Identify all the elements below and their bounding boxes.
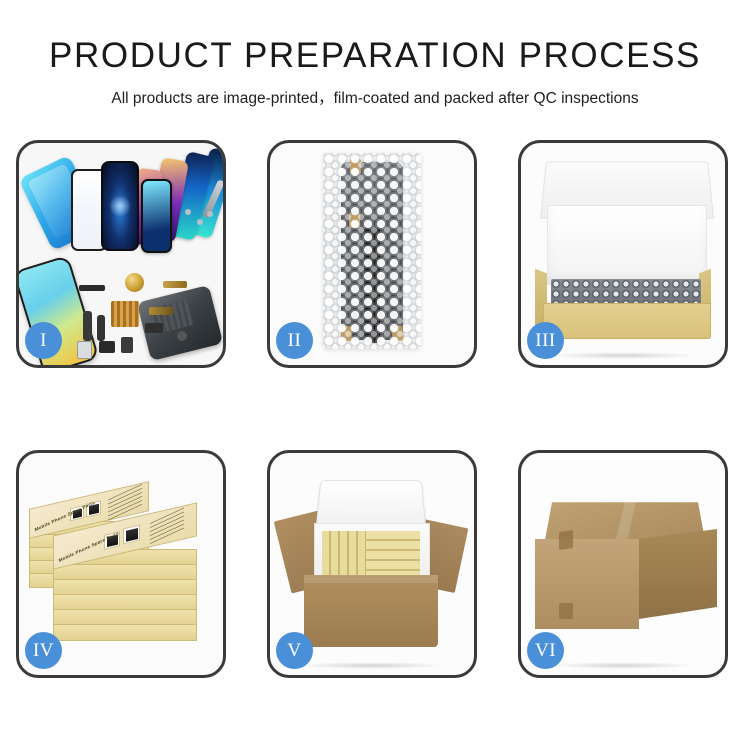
sealed-carton-icon [535,485,717,633]
spare-parts-group [77,271,205,363]
step-badge-4: IV [25,632,62,669]
flex-cable-a-icon [79,285,105,291]
phone-a-icon [141,179,172,253]
connector-icon [145,323,163,333]
tools-group [183,179,219,229]
kraft-box-front-icon [543,303,711,339]
step-badge-1: I [25,322,62,359]
step-badge-5: V [276,632,313,669]
page-title: PRODUCT PREPARATION PROCESS [0,38,750,73]
button-icon [177,331,187,341]
step-badge-3: III [527,322,564,359]
step-panel-6: VI [518,450,728,678]
carton-tape-top-icon [559,530,573,550]
product-preparation-infographic: PRODUCT PREPARATION PROCESS All products… [0,0,750,750]
box-fr-thumb-b [123,525,140,545]
step-panel-2: II [267,140,477,368]
drop-shadow [299,662,446,669]
bubble-wrap-bag-icon [323,153,421,349]
carton-front-face [535,539,639,629]
flex-cable-b-icon [163,281,187,288]
foam-pad-icon [547,205,707,285]
box-fr-textlines [150,507,184,545]
box-fr-6 [53,624,197,641]
yellow-boxes-inside-icon [322,531,420,577]
camera-module-icon [99,341,115,353]
drop-shadow [550,662,697,669]
phone-display-icon [101,161,139,251]
step-panel-5: V [267,450,477,678]
flex-cable-c-icon [83,311,92,341]
step-badge-2: II [276,322,313,359]
step-panel-1: I [16,140,226,368]
bubble-texture-icon [323,153,421,349]
carton-tape-bottom-icon [559,603,573,619]
screw-b-icon [197,219,203,225]
page-subtitle: All products are image-printed，film-coat… [0,86,750,108]
carton-right-face [639,529,717,619]
logic-chip-icon [111,301,139,327]
step-panel-3: III [518,140,728,368]
carton-body-icon [304,575,438,647]
flex-cable-d-icon [97,315,105,341]
screw-a-icon [185,209,191,215]
speaker-coil-icon [125,273,144,292]
drop-shadow [550,352,697,359]
vibrator-icon [121,337,133,353]
process-grid: I II [16,140,735,678]
step-panel-4: Mobile Phone Spare Parts Mobile Phone S [16,450,226,678]
step-badge-6: VI [527,632,564,669]
screw-c-icon [207,211,213,217]
sim-tray-icon [77,341,92,359]
header: PRODUCT PREPARATION PROCESS All products… [0,0,750,108]
box-stack-group: Mobile Phone Spare Parts Mobile Phone S [29,475,219,655]
flex-cable-e-icon [149,307,173,315]
